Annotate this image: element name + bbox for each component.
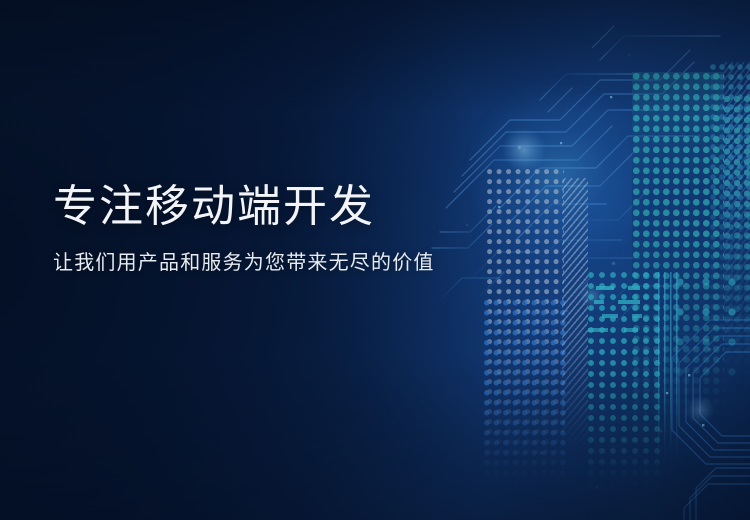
- hero-text-block: 专注移动端开发 让我们用产品和服务为您带来无尽的价值: [53, 182, 473, 275]
- tower-scatter-top: [676, 278, 750, 408]
- pixel-skyline-icon: [480, 0, 750, 520]
- tower-mid-teal: [588, 272, 660, 492]
- hero-banner: 专注移动端开发 让我们用产品和服务为您带来无尽的价值: [0, 0, 750, 520]
- page-subtitle: 让我们用产品和服务为您带来无尽的价值: [53, 251, 473, 275]
- tower-blue-dots: [484, 300, 570, 490]
- tower-hatch-strip: [562, 178, 588, 456]
- page-title: 专注移动端开发: [53, 182, 473, 233]
